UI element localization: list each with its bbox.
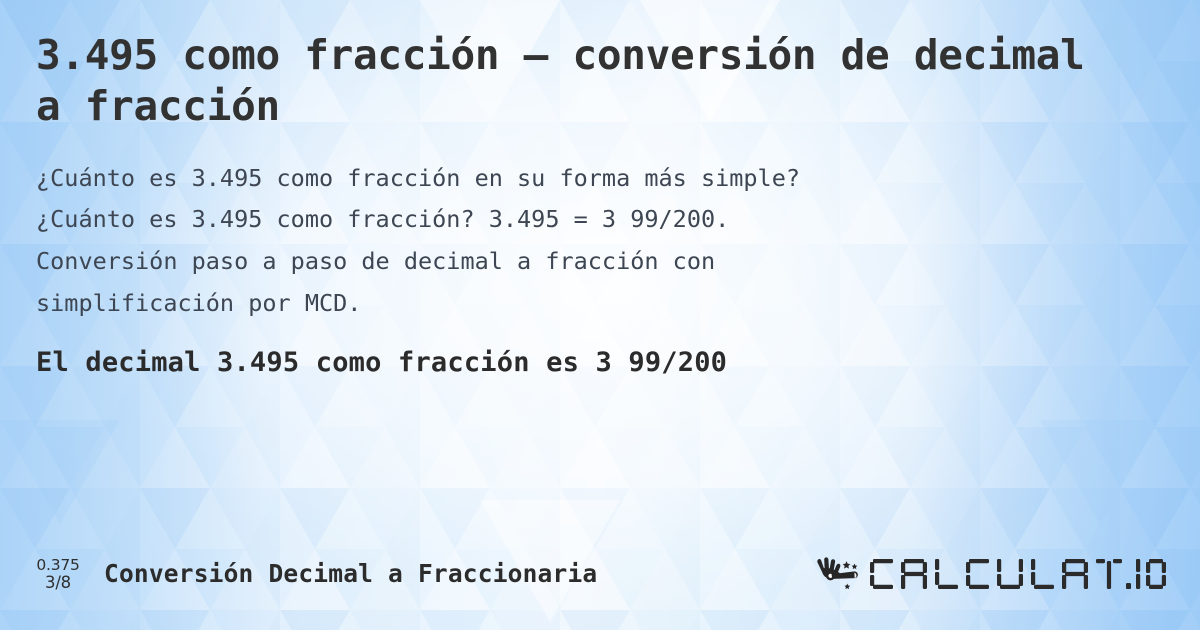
answer-statement: El decimal 3.495 como fracción es 3 99/2…: [36, 347, 1164, 379]
magic-wand-hand-icon: [810, 554, 862, 594]
description-line-1: ¿Cuánto es 3.495 como fracción en su for…: [36, 158, 1096, 200]
calculatio-lcd-wordmark-svg: [868, 556, 1168, 592]
card-footer: 0.375 3/8 Conversión Decimal a Fracciona…: [0, 534, 1200, 630]
description-line-4: simplificación por MCD.: [36, 283, 1096, 325]
og-card: 3.495 como fracción – conversión de deci…: [0, 0, 1200, 630]
footer-left-group: 0.375 3/8 Conversión Decimal a Fracciona…: [30, 557, 597, 592]
fraction-example-icon: 0.375 3/8: [30, 557, 86, 592]
page-title: 3.495 como fracción – conversión de deci…: [36, 30, 1106, 132]
brand-logo[interactable]: [810, 554, 1168, 594]
brand-wordmark: [868, 554, 1168, 594]
description-line-3: Conversión paso a paso de decimal a frac…: [36, 241, 1096, 283]
footer-title: Conversión Decimal a Fraccionaria: [104, 559, 597, 588]
description-line-2: ¿Cuánto es 3.495 como fracción? 3.495 = …: [36, 199, 1096, 241]
fraction-icon-fraction: 3/8: [45, 574, 71, 591]
fraction-icon-decimal: 0.375: [36, 557, 79, 573]
description-block: ¿Cuánto es 3.495 como fracción en su for…: [36, 158, 1096, 325]
